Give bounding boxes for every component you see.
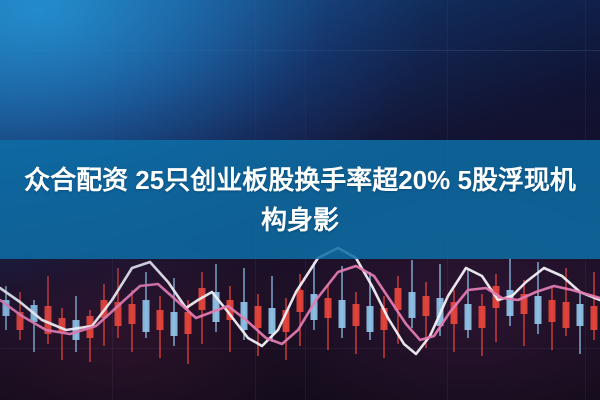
stock-news-banner: 众合配资 25只创业板股换手率超20% 5股浮现机构身影 — [0, 0, 600, 400]
banner-headline: 众合配资 25只创业板股换手率超20% 5股浮现机构身影 — [17, 160, 583, 240]
title-band: 众合配资 25只创业板股换手率超20% 5股浮现机构身影 — [0, 140, 600, 259]
